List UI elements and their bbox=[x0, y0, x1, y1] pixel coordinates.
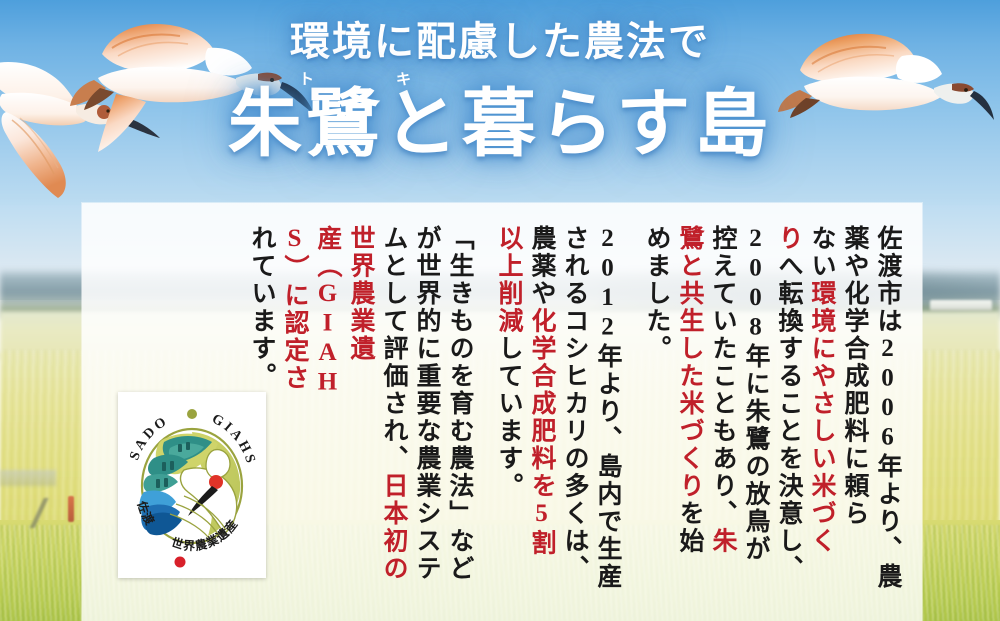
vertical-text-column: ムとして評価され、日本初の bbox=[381, 225, 406, 597]
vertical-text-column: 「生きものを育む農法」など bbox=[447, 225, 472, 597]
highlight-text: 日本初の bbox=[380, 473, 407, 583]
vertical-text-column: りへ転換することを決意し、 bbox=[776, 225, 801, 597]
vertical-text-column: 以上削減しています。 bbox=[496, 225, 521, 597]
vertical-text-column: 控えていたこともあり、朱 bbox=[710, 225, 735, 597]
body-text: 農薬や bbox=[528, 225, 555, 308]
highlight-text: 環境にやさしい米づく bbox=[808, 280, 835, 555]
vertical-text-column: されるコシヒカリの多くは、 bbox=[562, 225, 587, 597]
vertical-text-column: 鷺と共生した米づくりを始 bbox=[677, 225, 702, 597]
crested-ibis-right bbox=[770, 20, 995, 150]
vertical-text-column: 2008年に朱鷺の放鳥が bbox=[743, 225, 768, 597]
background-left-pole bbox=[18, 498, 64, 528]
highlight-text: 鷺と共生した米づくり bbox=[676, 225, 703, 500]
highlight-text: り bbox=[775, 225, 802, 253]
body-text: が世界的に重要な農業システ bbox=[413, 225, 440, 583]
body-text: ムとして評価され、 bbox=[380, 225, 407, 473]
body-text: 「生きものを育む農法」など bbox=[446, 225, 473, 583]
body-text: 佐渡市は2006年より、農 bbox=[874, 225, 901, 591]
highlight-text: 産（GIAH bbox=[314, 225, 341, 398]
vertical-text-column: 農薬や化学合成肥料を5割 bbox=[529, 225, 554, 597]
body-text: れています。 bbox=[248, 225, 275, 390]
body-text: ない bbox=[808, 225, 835, 280]
background-left-structure bbox=[0, 470, 56, 486]
vertical-text-column: ない環境にやさしい米づく bbox=[809, 225, 834, 597]
body-text: 2012年より、島内で生産 bbox=[594, 225, 621, 591]
vertical-text-column: めました。 bbox=[644, 225, 669, 597]
body-text: 控えていたこともあり、 bbox=[709, 225, 736, 528]
body-text: めました。 bbox=[643, 225, 670, 363]
vertical-text-column: S）に認定さ bbox=[282, 225, 307, 597]
body-text: されるコシヒカリの多くは、 bbox=[561, 225, 588, 583]
highlight-text: 以上削減 bbox=[495, 225, 522, 335]
sado-giahs-logo: SADO GIAHS 佐渡 世界農業遺産 bbox=[118, 392, 266, 578]
vertical-text-column: 世界農業遺 bbox=[348, 225, 373, 597]
highlight-text: 世界農業遺 bbox=[347, 225, 374, 363]
background-red-post bbox=[68, 496, 74, 522]
poster-stage: 環境に配慮した農法で ト キ 朱鷺と暮らす島 佐渡市は2006年より、農薬や化学… bbox=[0, 0, 1000, 621]
background-farm-building bbox=[930, 300, 992, 311]
vertical-text-column: が世界的に重要な農業システ bbox=[414, 225, 439, 597]
crested-ibis-left-front bbox=[58, 18, 318, 158]
highlight-text: 朱 bbox=[709, 528, 736, 556]
vertical-text-column: 2012年より、島内で生産 bbox=[595, 225, 620, 597]
body-text: 2008年に朱鷺の放鳥が bbox=[742, 225, 769, 563]
vertical-text-column: 産（GIAH bbox=[315, 225, 340, 597]
vertical-text-column: 薬や化学合成肥料に頼ら bbox=[842, 225, 867, 597]
highlight-text: 化学合成肥料を5割 bbox=[528, 308, 555, 558]
highlight-text: S）に認定さ bbox=[281, 225, 308, 392]
body-text: しています。 bbox=[495, 335, 522, 500]
body-text: へ転換することを決意し、 bbox=[775, 253, 802, 583]
body-text: を始 bbox=[676, 500, 703, 555]
vertical-text-column: 佐渡市は2006年より、農 bbox=[875, 225, 900, 597]
body-text: 薬や化学合成肥料に頼ら bbox=[841, 225, 868, 528]
